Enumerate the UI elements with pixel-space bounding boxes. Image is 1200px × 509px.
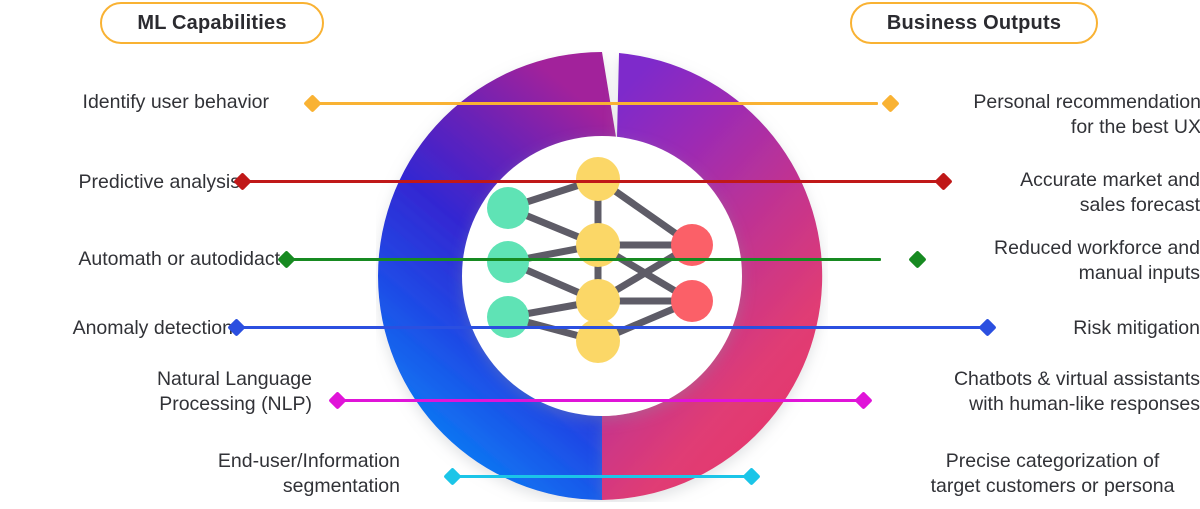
connector-line-left-3 xyxy=(284,258,881,261)
right-label-personal-recommendation: Personal recommendation for the best UX xyxy=(909,90,1200,140)
left-label-end-user-segmentation: End-user/Information segmentation xyxy=(115,449,400,499)
left-label-predictive-analysis: Predictive analysis xyxy=(0,170,240,195)
connector-diamond-right-4 xyxy=(978,318,996,336)
connector-line-left-1 xyxy=(308,102,878,105)
connector-line-left-4 xyxy=(234,326,986,329)
neural-network-input-nodes xyxy=(487,187,529,338)
left-label-identify-user-behavior: Identify user behavior xyxy=(0,90,269,115)
right-label-precise-categorization: Precise categorization of target custome… xyxy=(905,449,1200,499)
connector-diamond-right-5 xyxy=(854,391,872,409)
right-label-reduced-workforce: Reduced workforce and manual inputs xyxy=(935,236,1200,286)
right-label-accurate-market: Accurate market and sales forecast xyxy=(960,168,1200,218)
connector-diamond-left-1 xyxy=(303,94,321,112)
connector-line-left-6 xyxy=(452,475,752,478)
connector-diamond-left-3 xyxy=(277,250,295,268)
badge-business-outputs: Business Outputs xyxy=(850,2,1098,44)
connector-diamond-right-1 xyxy=(881,94,899,112)
right-label-chatbots-virtual-assistants: Chatbots & virtual assistants with human… xyxy=(894,367,1200,417)
infographic-canvas: ML Capabilities Business Outputs xyxy=(0,0,1200,509)
connector-diamond-right-3 xyxy=(908,250,926,268)
connector-diamond-right-2 xyxy=(934,172,952,190)
connector-line-left-5 xyxy=(335,399,865,402)
right-label-risk-mitigation: Risk mitigation xyxy=(1000,316,1200,341)
left-label-automath-or-autodidact: Automath or autodidact xyxy=(15,247,280,272)
connector-line-left-2 xyxy=(239,180,945,183)
connector-diamond-left-5 xyxy=(328,391,346,409)
badge-ml-capabilities: ML Capabilities xyxy=(100,2,324,44)
neural-network-output-nodes xyxy=(671,224,713,322)
left-label-anomaly-detection: Anomaly detection xyxy=(0,316,233,341)
left-label-natural-language-processing: Natural Language Processing (NLP) xyxy=(52,367,312,417)
